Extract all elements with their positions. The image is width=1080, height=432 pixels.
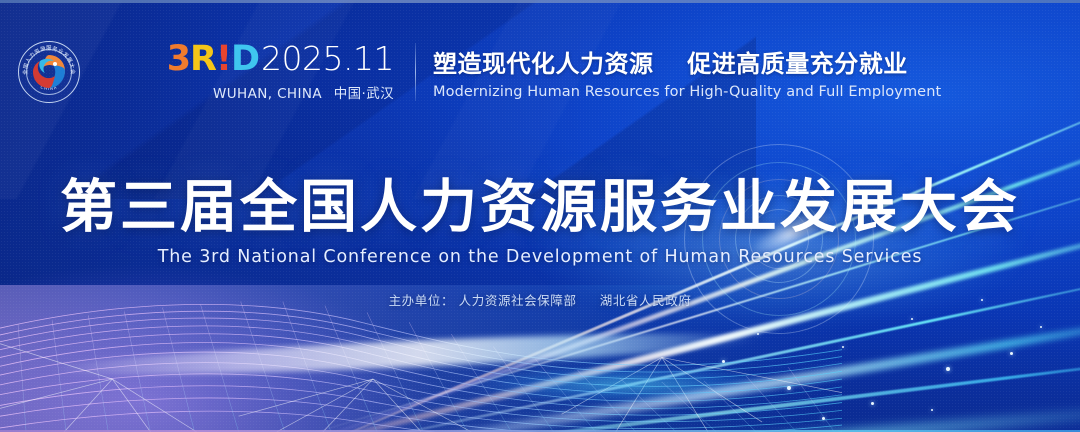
edition-mark-block: 3 R ! D 2025.11 WUHAN, CHINA 中国·武汉 xyxy=(206,42,398,102)
event-city-line: WUHAN, CHINA 中国·武汉 xyxy=(206,82,394,102)
conference-title-cn: 第三届全国人力资源服务业发展大会 xyxy=(0,178,1080,238)
edition-exclaim: ! xyxy=(216,42,231,77)
conference-title-en: The 3rd National Conference on the Devel… xyxy=(0,247,1080,267)
slogan-english: Modernizing Human Resources for High-Qua… xyxy=(433,84,941,100)
brand-block: 3 R ! D 2025.11 WUHAN, CHINA 中国·武汉 塑造现代化… xyxy=(206,42,941,102)
event-city-en: WUHAN, CHINA xyxy=(213,86,322,102)
slogan-chinese-part2: 促进高质量充分就业 xyxy=(687,50,908,78)
edition-logo: 3 R ! D 2025.11 xyxy=(206,42,394,77)
header-divider xyxy=(415,43,416,101)
edition-letter-d: D xyxy=(231,42,259,77)
host-org-1: 人力资源社会保障部 xyxy=(459,293,577,308)
host-org-2: 湖北省人民政府 xyxy=(600,293,692,308)
banner-header: 全国人力资源服务业发展大会 CHINA 3 R ! D xyxy=(0,22,1080,122)
edition-digit: 3 xyxy=(167,42,190,77)
banner-main-content: 第三届全国人力资源服务业发展大会 The 3rd National Confer… xyxy=(0,178,1080,309)
slogan-chinese: 塑造现代化人力资源 促进高质量充分就业 xyxy=(433,44,941,79)
edition-letter-r: R xyxy=(190,42,216,77)
host-organizations: 主办单位： 人力资源社会保障部 湖北省人民政府 xyxy=(0,290,1080,309)
slogan-chinese-part1: 塑造现代化人力资源 xyxy=(433,50,654,78)
banner-top-edge xyxy=(0,0,1080,3)
conference-emblem: 全国人力资源服务业发展大会 CHINA xyxy=(18,41,80,103)
event-city-cn: 中国·武汉 xyxy=(334,86,394,102)
emblem-swirl-icon xyxy=(29,52,69,92)
slogan-block: 塑造现代化人力资源 促进高质量充分就业 Modernizing Human Re… xyxy=(433,44,941,100)
conference-banner: 全国人力资源服务业发展大会 CHINA 3 R ! D xyxy=(0,0,1080,432)
host-label: 主办单位： xyxy=(389,293,455,308)
event-date: 2025.11 xyxy=(261,42,394,75)
